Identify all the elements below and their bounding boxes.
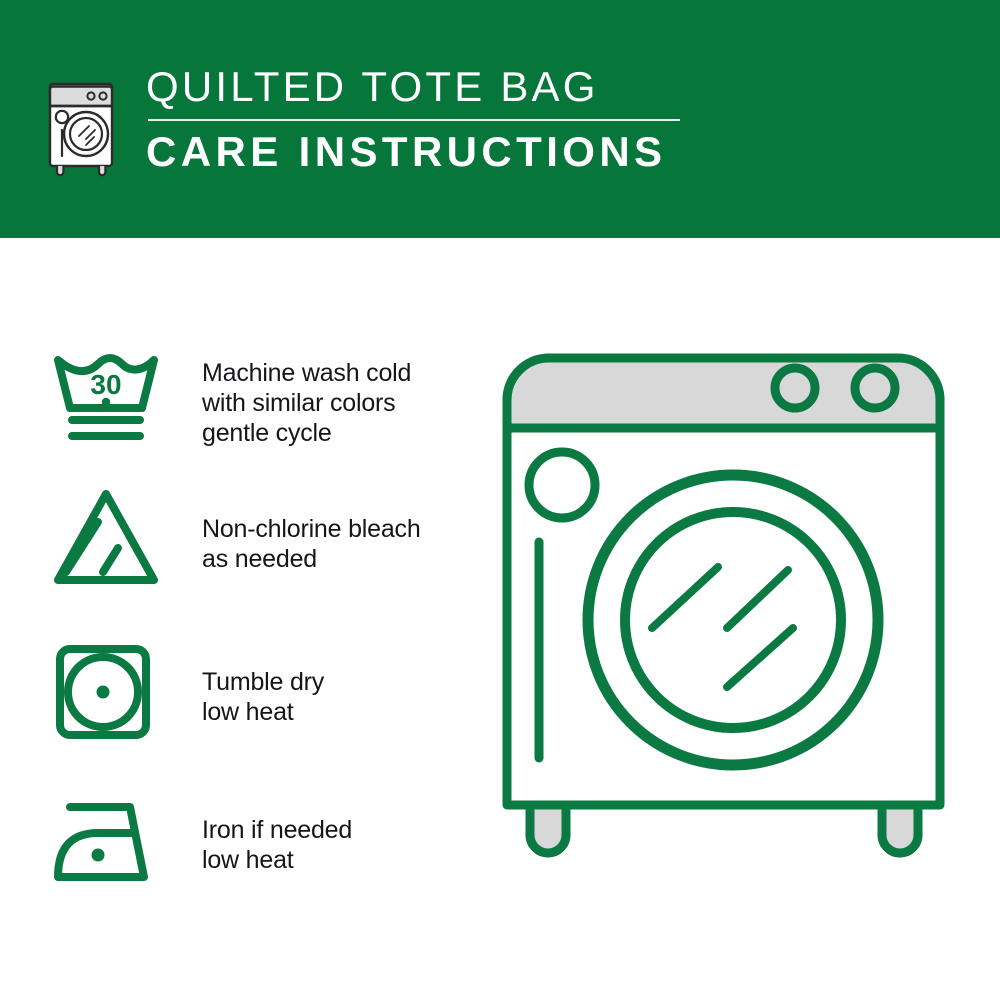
washing-machine-icon — [42, 66, 128, 178]
iron-low-heat-icon — [52, 793, 160, 897]
washing-machine-illustration — [490, 330, 980, 930]
page-subtitle: CARE INSTRUCTIONS — [146, 127, 680, 177]
list-item: Tumble dry low heat — [52, 643, 324, 747]
list-item-label: Iron if needed low heat — [202, 793, 352, 875]
tumble-dry-low-icon — [52, 643, 160, 747]
list-item: Iron if needed low heat — [52, 793, 352, 897]
front-load-washing-machine-illustration — [490, 330, 980, 930]
machine-leg-left — [530, 805, 566, 853]
list-item: 30 Machine wash cold with similar colors… — [52, 346, 411, 450]
list-item: Non-chlorine bleach as needed — [52, 486, 421, 590]
list-item-label: Tumble dry low heat — [202, 643, 324, 727]
header-banner: QUILTED TOTE BAG CARE INSTRUCTIONS — [0, 0, 1000, 238]
wash-temperature-label: 30 — [90, 369, 121, 400]
title-divider — [148, 119, 680, 121]
wash-tub-30-icon: 30 — [52, 346, 160, 450]
header-title-group: QUILTED TOTE BAG CARE INSTRUCTIONS — [146, 62, 680, 177]
non-chlorine-bleach-triangle-icon — [52, 486, 160, 590]
machine-leg-right — [882, 805, 918, 853]
page-title: QUILTED TOTE BAG — [146, 62, 680, 112]
list-item-label: Non-chlorine bleach as needed — [202, 486, 421, 574]
care-instructions-list: 30 Machine wash cold with similar colors… — [0, 238, 500, 1000]
header-content: QUILTED TOTE BAG CARE INSTRUCTIONS — [42, 62, 680, 178]
list-item-label: Machine wash cold with similar colors ge… — [202, 346, 411, 448]
